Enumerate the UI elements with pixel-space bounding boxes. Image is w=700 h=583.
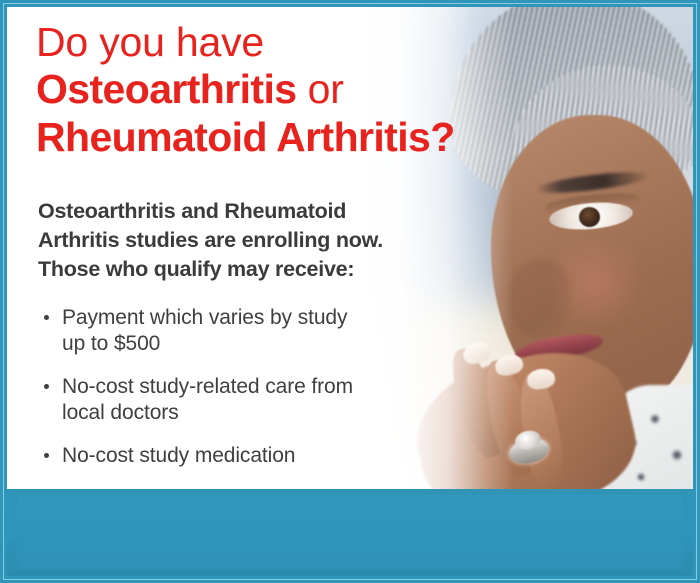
subheadline-line-3: Those who qualify may receive: <box>38 255 508 284</box>
benefit-3-line-1: No-cost study medication <box>62 443 518 469</box>
benefit-1-line-2: up to $500 <box>62 331 518 357</box>
bullet-dot-icon <box>44 384 49 389</box>
bullet-dot-icon <box>44 453 49 458</box>
headline-condition-rheumatoid-arthritis: Rheumatoid Arthritis? <box>36 113 536 161</box>
headline-block: Do you have Osteoarthritis or Rheumatoid… <box>36 19 536 161</box>
list-item: No-cost study medication <box>38 443 518 469</box>
bottom-teal-bar-inner <box>17 495 683 570</box>
benefit-2-line-2: local doctors <box>62 400 518 426</box>
subheadline-block: Osteoarthritis and Rheumatoid Arthritis … <box>38 197 508 284</box>
bullet-dot-icon <box>44 315 49 320</box>
ad-text-panel: Do you have Osteoarthritis or Rheumatoid… <box>7 7 437 492</box>
list-item: Payment which varies by study up to $500 <box>38 305 518 357</box>
headline-conjunction-or: or <box>296 66 343 112</box>
subheadline-line-2: Arthritis studies are enrolling now. <box>38 226 508 255</box>
ad-card: Do you have Osteoarthritis or Rheumatoid… <box>7 7 693 492</box>
list-item: No-cost study-related care from local do… <box>38 374 518 426</box>
headline-condition-osteoarthritis: Osteoarthritis <box>36 66 296 112</box>
benefit-1-line-1: Payment which varies by study <box>62 305 518 331</box>
benefits-list: Payment which varies by study up to $500… <box>38 305 518 486</box>
bottom-teal-bar <box>7 489 693 576</box>
benefit-2-line-1: No-cost study-related care from <box>62 374 518 400</box>
arthritis-study-recruitment-ad: Do you have Osteoarthritis or Rheumatoid… <box>0 0 700 583</box>
headline-line-2: Osteoarthritis or <box>36 65 536 113</box>
subheadline-line-1: Osteoarthritis and Rheumatoid <box>38 197 508 226</box>
headline-line-1: Do you have <box>36 19 536 65</box>
iris-shape <box>579 207 600 227</box>
